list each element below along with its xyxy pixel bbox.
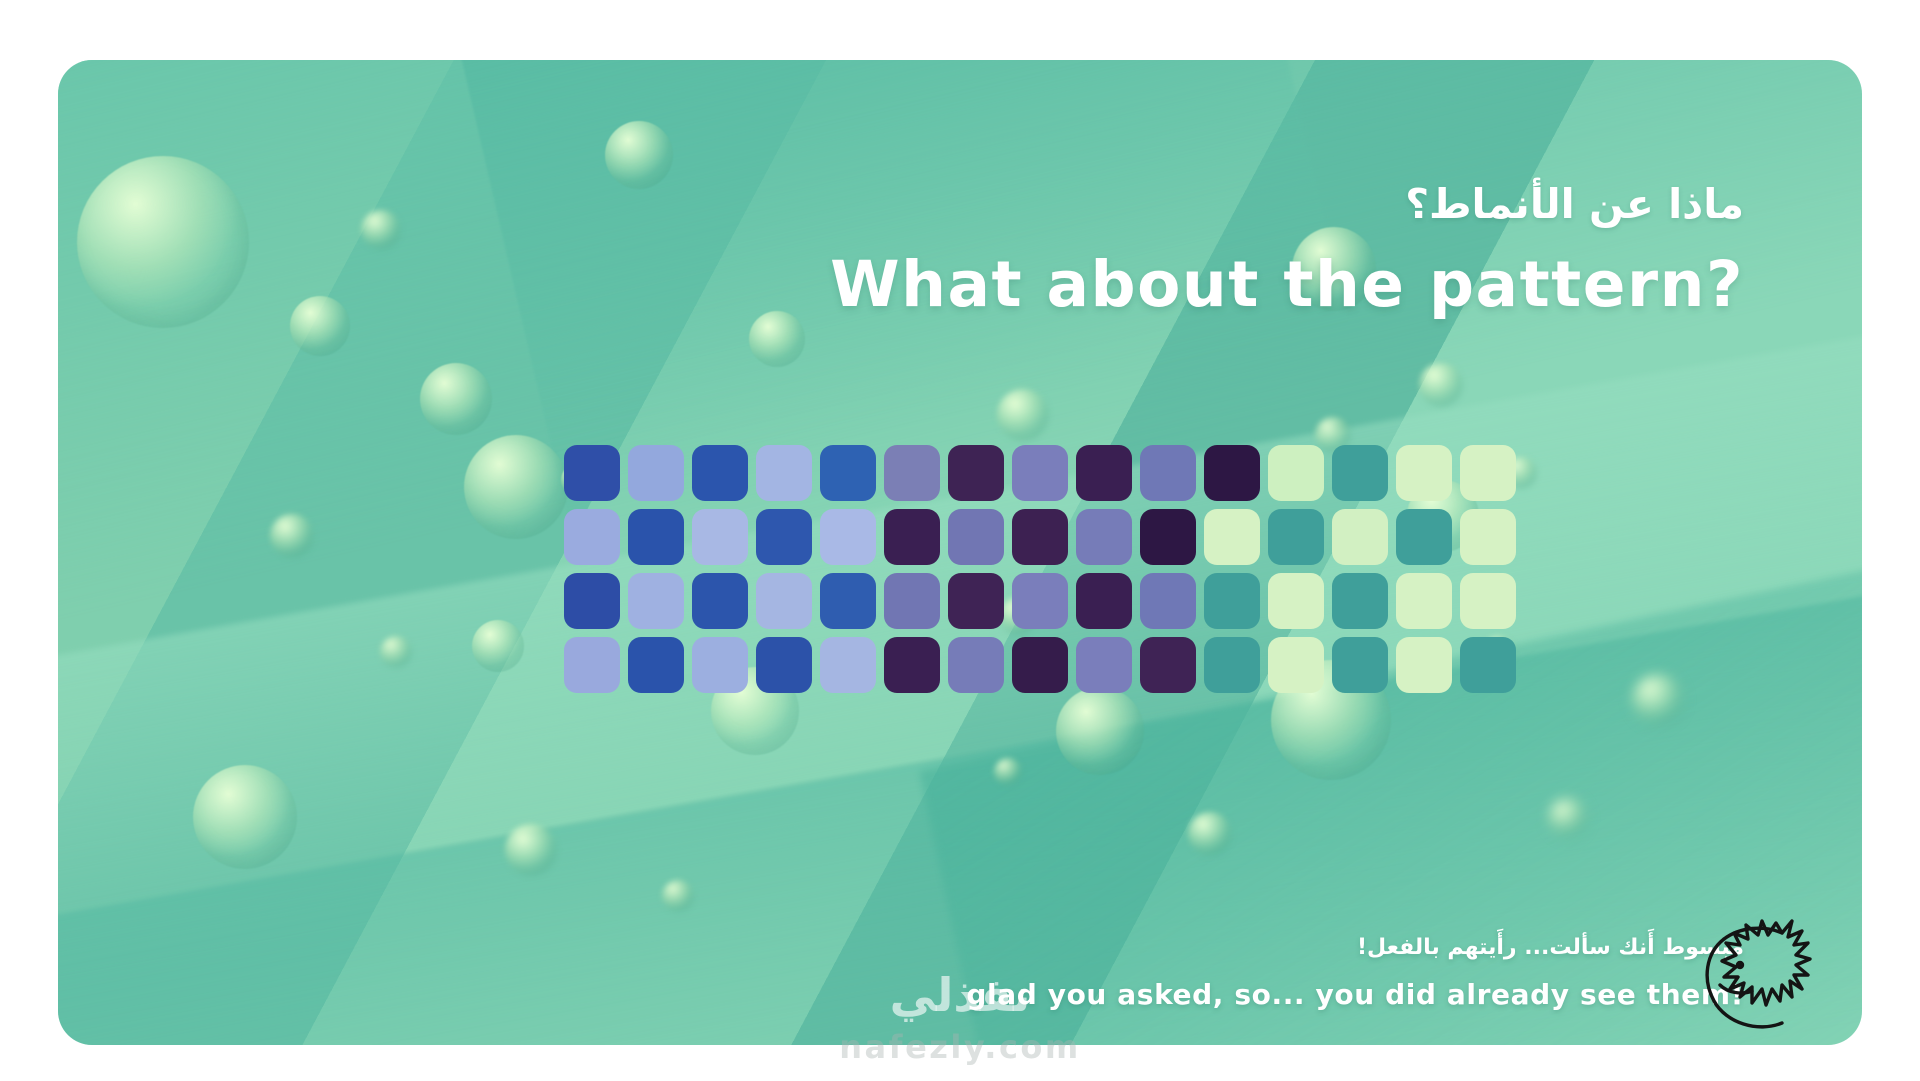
- palette-swatch: [1076, 445, 1132, 501]
- palette-swatch: [1460, 637, 1516, 693]
- palette-swatch: [820, 445, 876, 501]
- palette-swatch: [564, 573, 620, 629]
- bubble-decoration: [420, 363, 492, 435]
- palette-swatch: [948, 509, 1004, 565]
- palette-swatch: [1012, 509, 1068, 565]
- palette-swatch: [564, 637, 620, 693]
- palette-swatch: [628, 445, 684, 501]
- bubble-decoration: [290, 296, 350, 356]
- palette-swatch: [692, 637, 748, 693]
- bubble-decoration: [605, 121, 673, 189]
- bubble-decoration: [270, 514, 314, 558]
- palette-swatch: [1460, 573, 1516, 629]
- palette-swatch: [884, 445, 940, 501]
- palette-swatch: [1140, 509, 1196, 565]
- palette-swatch: [1076, 637, 1132, 693]
- palette-swatch: [628, 509, 684, 565]
- bubble-decoration: [1056, 687, 1144, 775]
- bubble-decoration: [1548, 798, 1588, 838]
- palette-swatch: [1140, 637, 1196, 693]
- palette-swatch: [1140, 445, 1196, 501]
- bubble-decoration: [1632, 674, 1684, 726]
- palette-swatch: [692, 573, 748, 629]
- palette-swatch: [884, 573, 940, 629]
- palette-swatch: [564, 445, 620, 501]
- palette-swatch: [948, 637, 1004, 693]
- palette-swatch: [756, 509, 812, 565]
- palette-swatch: [820, 573, 876, 629]
- palette-swatch: [948, 445, 1004, 501]
- palette-swatch: [884, 509, 940, 565]
- palette-swatch: [1396, 637, 1452, 693]
- slide-canvas: ماذا عن الأنماط؟ What about the pattern?…: [0, 0, 1920, 1081]
- bubble-decoration: [193, 765, 297, 869]
- palette-swatch: [1396, 509, 1452, 565]
- presentation-slide: ماذا عن الأنماط؟ What about the pattern?…: [58, 60, 1862, 1045]
- palette-swatch: [1332, 637, 1388, 693]
- palette-swatch: [1332, 509, 1388, 565]
- palette-swatch: [820, 637, 876, 693]
- bubble-decoration: [380, 636, 412, 668]
- palette-swatch: [1396, 573, 1452, 629]
- palette-swatch: [564, 509, 620, 565]
- slide-title-arabic: ماذا عن الأنماط؟: [644, 180, 1744, 228]
- palette-swatch: [1204, 637, 1260, 693]
- palette-swatch: [1012, 637, 1068, 693]
- palette-swatch: [1460, 445, 1516, 501]
- bubble-decoration: [472, 620, 524, 672]
- bubble-decoration: [464, 435, 568, 539]
- palette-swatch: [1140, 573, 1196, 629]
- palette-swatch: [628, 637, 684, 693]
- bubble-decoration: [505, 824, 557, 876]
- bubble-decoration: [77, 156, 249, 328]
- slide-caption-arabic: مبسوط أَنك سألت... رأَيتهم بالفعل!: [644, 935, 1744, 960]
- palette-swatch: [1268, 509, 1324, 565]
- palette-swatch: [692, 445, 748, 501]
- palette-swatch: [1396, 445, 1452, 501]
- palette-swatch: [1076, 573, 1132, 629]
- bubble-decoration: [1188, 812, 1232, 856]
- palette-swatch: [1268, 637, 1324, 693]
- palette-swatch: [1204, 509, 1260, 565]
- palette-swatch: [1460, 509, 1516, 565]
- palette-swatch: [1012, 573, 1068, 629]
- bubble-decoration: [994, 758, 1022, 786]
- palette-swatch: [884, 637, 940, 693]
- palette-swatch: [1332, 573, 1388, 629]
- palette-swatch: [692, 509, 748, 565]
- palette-swatch: [820, 509, 876, 565]
- palette-swatch: [1268, 445, 1324, 501]
- palette-swatch: [948, 573, 1004, 629]
- palette-swatch: [1204, 573, 1260, 629]
- palette-swatch: [756, 637, 812, 693]
- palette-swatch: [628, 573, 684, 629]
- palette-swatch: [1332, 445, 1388, 501]
- palette-swatch: [1012, 445, 1068, 501]
- bubble-decoration: [662, 880, 694, 912]
- palette-swatch: [1076, 509, 1132, 565]
- bubble-decoration: [1419, 363, 1463, 407]
- color-palette-grid: [564, 445, 1516, 693]
- bubble-decoration: [997, 389, 1049, 441]
- bubble-decoration: [361, 210, 401, 250]
- spiky-hedgehog-doodle-icon: [1696, 911, 1816, 1037]
- palette-swatch: [1204, 445, 1260, 501]
- palette-swatch: [756, 573, 812, 629]
- palette-swatch: [1268, 573, 1324, 629]
- palette-swatch: [756, 445, 812, 501]
- slide-caption-english: glad you asked, so... you did already se…: [544, 978, 1744, 1011]
- slide-title-english: What about the pattern?: [544, 248, 1744, 321]
